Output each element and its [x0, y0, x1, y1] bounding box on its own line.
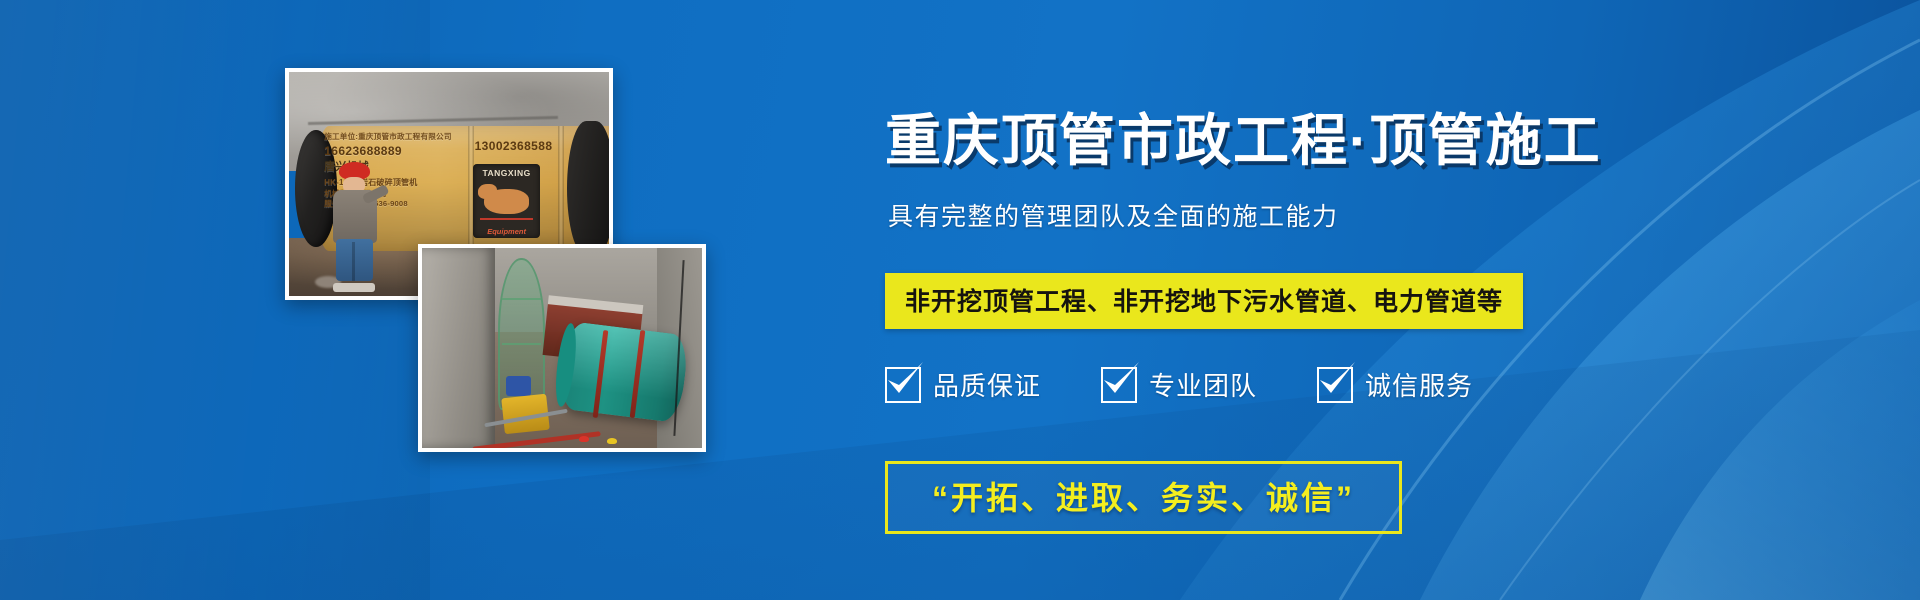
feature-item-service: 诚信服务: [1317, 366, 1473, 403]
photo1-worker: [331, 162, 379, 287]
feature-item-quality: 品质保证: [885, 366, 1041, 403]
photo1-phone-2: 13002368588: [475, 139, 553, 153]
photo1-worker-shoes: [333, 283, 374, 292]
banner-content: 重庆顶管市政工程·顶管施工 具有完整的管理团队及全面的施工能力 非开挖顶管工程、…: [885, 0, 1885, 600]
feature-label-quality: 品质保证: [933, 366, 1041, 403]
photo2-green-jacking-pipe: [557, 321, 690, 423]
feature-list: 品质保证 专业团队 诚信服务: [885, 366, 1473, 403]
slogan-box: “开拓、进取、务实、诚信”: [885, 461, 1402, 534]
check-icon: [1317, 367, 1353, 403]
trench-pipe-jacking-photo: [418, 244, 706, 452]
photo1-badge-name: TANGXING: [473, 168, 540, 178]
check-icon: [885, 367, 921, 403]
photo1-badge-sub: Equipment: [473, 227, 540, 236]
hardhat-icon: [579, 436, 589, 442]
page-subtitle: 具有完整的管理团队及全面的施工能力: [888, 197, 1339, 233]
photo1-cutter-head: [567, 121, 613, 255]
feature-label-service: 诚信服务: [1365, 366, 1473, 403]
feature-label-team: 专业团队: [1149, 366, 1257, 403]
hardhat-icon: [607, 438, 617, 444]
feature-item-team: 专业团队: [1101, 366, 1257, 403]
check-icon: [1101, 367, 1137, 403]
page-title: 重庆顶管市政工程·顶管施工: [885, 96, 1602, 177]
rhino-icon: [484, 189, 530, 214]
photo1-tangxing-badge: TANGXING Equipment: [473, 164, 540, 238]
photo2-left-shoring-wall: [422, 248, 495, 448]
promotional-banner: 施工单位:重庆顶管市政工程有限公司 16623688889 唐兴机械 HK-16…: [0, 0, 1920, 600]
photo1-body-seam: [558, 126, 564, 251]
photo1-badge-divider: [480, 218, 534, 220]
photo1-worker-jeans: [336, 239, 372, 280]
slogan-text: “开拓、进取、务实、诚信”: [932, 480, 1355, 516]
photo2-blue-motor: [506, 376, 531, 396]
services-tagline-bar: 非开挖顶管工程、非开挖地下污水管道、电力管道等: [885, 273, 1523, 329]
